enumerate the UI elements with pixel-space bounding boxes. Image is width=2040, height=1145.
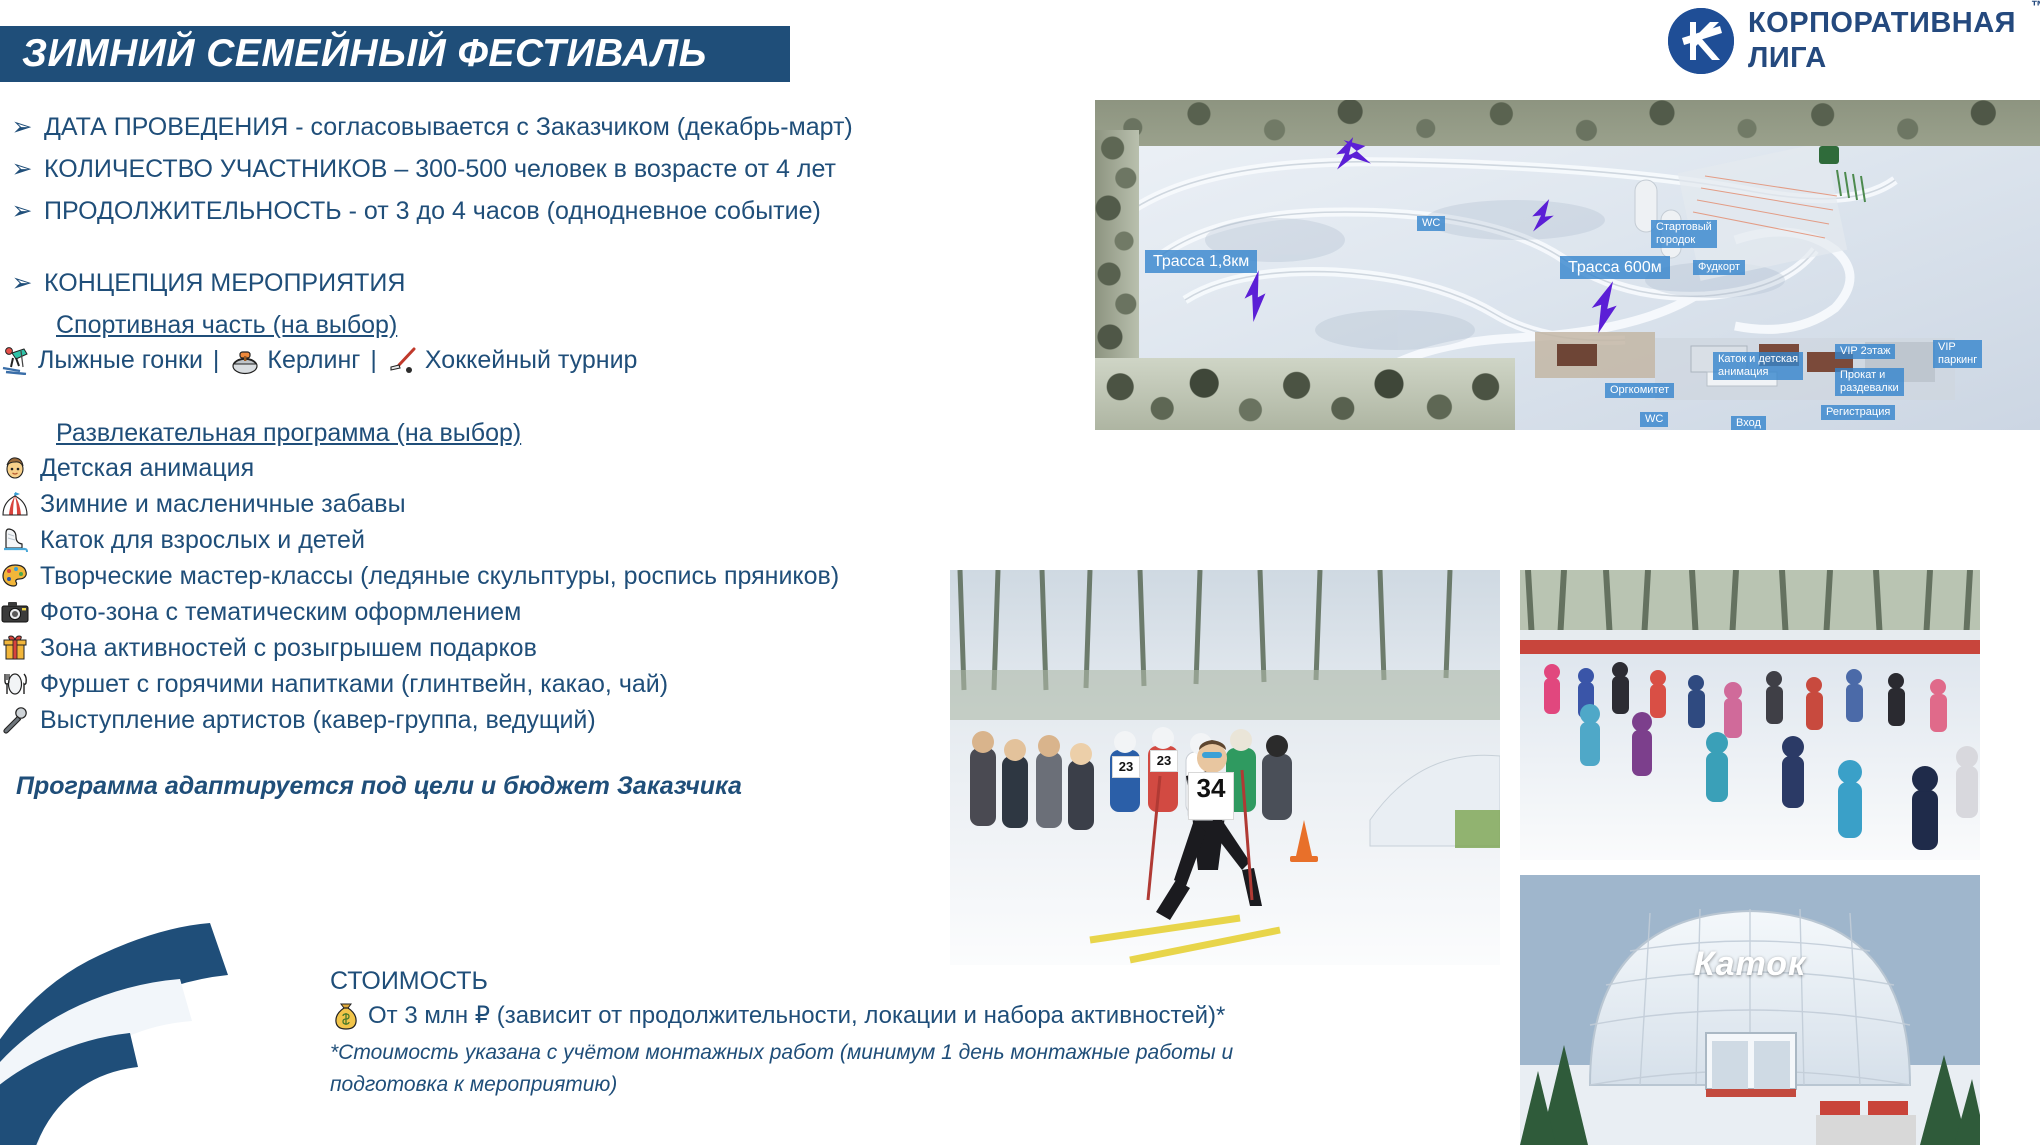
- map-label-vip-floor2: VIP 2этаж: [1835, 344, 1895, 359]
- arrow-bullet-icon: ➢: [0, 266, 44, 300]
- brand-logo: КОРПОРАТИВНАЯ ЛИГА ™: [1668, 8, 2016, 74]
- circus-tent-icon: [0, 489, 34, 519]
- sport-option-label: Лыжные гонки: [38, 342, 203, 378]
- decorative-swoosh: [0, 865, 310, 1145]
- fork-knife-plate-icon: [0, 669, 34, 699]
- gift-icon: [0, 633, 34, 663]
- map-label-start-village: Стартовый городок: [1651, 220, 1717, 248]
- entertainment-label: Зимние и масленичные забавы: [40, 486, 406, 522]
- cost-section: СТОИМОСТЬ От 3 млн ₽ (зависит от продолж…: [330, 965, 1390, 1101]
- map-label-vip-parking: VIP паркинг: [1933, 340, 1982, 368]
- entertainment-label: Выступление артистов (кавер-группа, веду…: [40, 702, 596, 738]
- map-label-foodcourt: Фудкорт: [1693, 260, 1745, 275]
- logo-wordmark: КОРПОРАТИВНАЯ ЛИГА ™: [1748, 9, 2016, 73]
- entertainment-item: Зимние и масленичные забавы: [0, 486, 980, 522]
- bullet-item: ➢ КОЛИЧЕСТВО УЧАСТНИКОВ – 300-500 челове…: [0, 152, 980, 186]
- money-bag-icon: [330, 1001, 364, 1031]
- trademark-symbol: ™: [2031, 0, 2040, 14]
- bullet-item: ➢ ПРОДОЛЖИТЕЛЬНОСТЬ - от 3 до 4 часов (о…: [0, 194, 980, 228]
- bullet-label: ДАТА ПРОВЕДЕНИЯ - согласовывается с Зака…: [44, 110, 853, 144]
- slide-root: КОРПОРАТИВНАЯ ЛИГА ™ ЗИМНИЙ СЕМЕЙНЫЙ ФЕС…: [0, 0, 2040, 1145]
- cost-heading: СТОИМОСТЬ: [330, 965, 1390, 997]
- spacer: [0, 378, 980, 408]
- bib-number: 34: [1188, 772, 1234, 820]
- dome-brand-text: Каток: [1694, 945, 1807, 984]
- map-label-wc-lower: WC: [1640, 412, 1668, 427]
- entertainment-item: Выступление артистов (кавер-группа, веду…: [0, 702, 980, 738]
- sport-option-label: Керлинг: [267, 342, 360, 378]
- curling-stone-icon: [229, 345, 263, 375]
- arrow-bullet-icon: ➢: [0, 110, 44, 144]
- content-column: ➢ ДАТА ПРОВЕДЕНИЯ - согласовывается с За…: [0, 110, 980, 801]
- ice-skate-icon: [0, 525, 34, 555]
- entertainment-label: Детская анимация: [40, 450, 254, 486]
- map-label-entrance: Вход: [1731, 416, 1766, 430]
- sport-options-row: Лыжные гонки | Керлинг | Хоккейный: [0, 342, 980, 378]
- page-title: ЗИМНИЙ СЕМЕЙНЫЙ ФЕСТИВАЛЬ: [0, 32, 707, 76]
- entertainment-label: Фуршет с горячими напитками (глинтвейн, …: [40, 666, 668, 702]
- entertainment-section-heading: Развлекательная программа (на выбор): [56, 416, 980, 450]
- photo-ice-rink: [1520, 570, 1980, 860]
- entertainment-item: Фуршет с горячими напитками (глинтвейн, …: [0, 666, 980, 702]
- map-label-orgcommittee: Оргкомитет: [1605, 383, 1674, 398]
- map-label-registration: Регистрация: [1821, 405, 1895, 420]
- artist-palette-icon: [0, 561, 34, 591]
- entertainment-item: Зона активностей с розыгрышем подарков: [0, 630, 980, 666]
- map-label-rink-and-kids: Каток и детская анимация: [1713, 352, 1803, 380]
- entertainment-item: Каток для взрослых и детей: [0, 522, 980, 558]
- logo-line-2: ЛИГА: [1748, 44, 2016, 73]
- child-face-icon: [0, 453, 34, 483]
- logo-line-1: КОРПОРАТИВНАЯ: [1748, 9, 2016, 38]
- option-separator: |: [360, 342, 387, 378]
- entertainment-item: Детская анимация: [0, 450, 980, 486]
- sport-option-label: Хоккейный турнир: [425, 342, 638, 378]
- bib-number: 23: [1150, 750, 1178, 772]
- map-label-track-1800: Трасса 1,8км: [1145, 250, 1257, 273]
- microphone-icon: [0, 705, 34, 735]
- bullet-label: КОЛИЧЕСТВО УЧАСТНИКОВ – 300-500 человек …: [44, 152, 836, 186]
- spacer: [0, 408, 980, 416]
- option-separator: |: [203, 342, 230, 378]
- photo-ski-race: 34 23 23: [950, 570, 1500, 965]
- ice-hockey-stick-icon: [387, 345, 421, 375]
- entertainment-item: Фото-зона с тематическим оформлением: [0, 594, 980, 630]
- bullet-item: ➢ КОНЦЕПЦИЯ МЕРОПРИЯТИЯ: [0, 266, 980, 300]
- letter-k-circle-icon: [1668, 8, 1734, 74]
- bullet-label: ПРОДОЛЖИТЕЛЬНОСТЬ - от 3 до 4 часов (одн…: [44, 194, 821, 228]
- cost-footnote: *Стоимость указана с учётом монтажных ра…: [330, 1037, 1270, 1101]
- program-note: Программа адаптируется под цели и бюджет…: [16, 772, 980, 801]
- map-label-track-600: Трасса 600м: [1560, 256, 1670, 279]
- photo-dome-rink: Каток: [1520, 875, 1980, 1145]
- skier-icon: [0, 345, 34, 375]
- sport-section-heading: Спортивная часть (на выбор): [56, 308, 980, 342]
- camera-icon: [0, 597, 34, 627]
- entertainment-label: Зона активностей с розыгрышем подарков: [40, 630, 537, 666]
- arrow-bullet-icon: ➢: [0, 194, 44, 228]
- map-label-rental-changing: Прокат и раздевалки: [1835, 368, 1904, 396]
- aerial-venue-map: Трасса 1,8км Трасса 600м WC Стартовый го…: [1095, 100, 2040, 430]
- title-banner: ЗИМНИЙ СЕМЕЙНЫЙ ФЕСТИВАЛЬ: [0, 26, 790, 82]
- cost-amount-row: От 3 млн ₽ (зависит от продолжительности…: [330, 999, 1390, 1033]
- entertainment-label: Творческие мастер-классы (ледяные скульп…: [40, 558, 839, 594]
- entertainment-label: Каток для взрослых и детей: [40, 522, 365, 558]
- entertainment-item: Творческие мастер-классы (ледяные скульп…: [0, 558, 980, 594]
- bullet-label: КОНЦЕПЦИЯ МЕРОПРИЯТИЯ: [44, 266, 405, 300]
- map-label-wc-upper: WC: [1417, 216, 1445, 231]
- spacer: [0, 236, 980, 266]
- entertainment-label: Фото-зона с тематическим оформлением: [40, 594, 521, 630]
- arrow-bullet-icon: ➢: [0, 152, 44, 186]
- cost-amount-label: От 3 млн ₽ (зависит от продолжительности…: [368, 999, 1225, 1033]
- bib-number: 23: [1112, 756, 1140, 778]
- bullet-item: ➢ ДАТА ПРОВЕДЕНИЯ - согласовывается с За…: [0, 110, 980, 144]
